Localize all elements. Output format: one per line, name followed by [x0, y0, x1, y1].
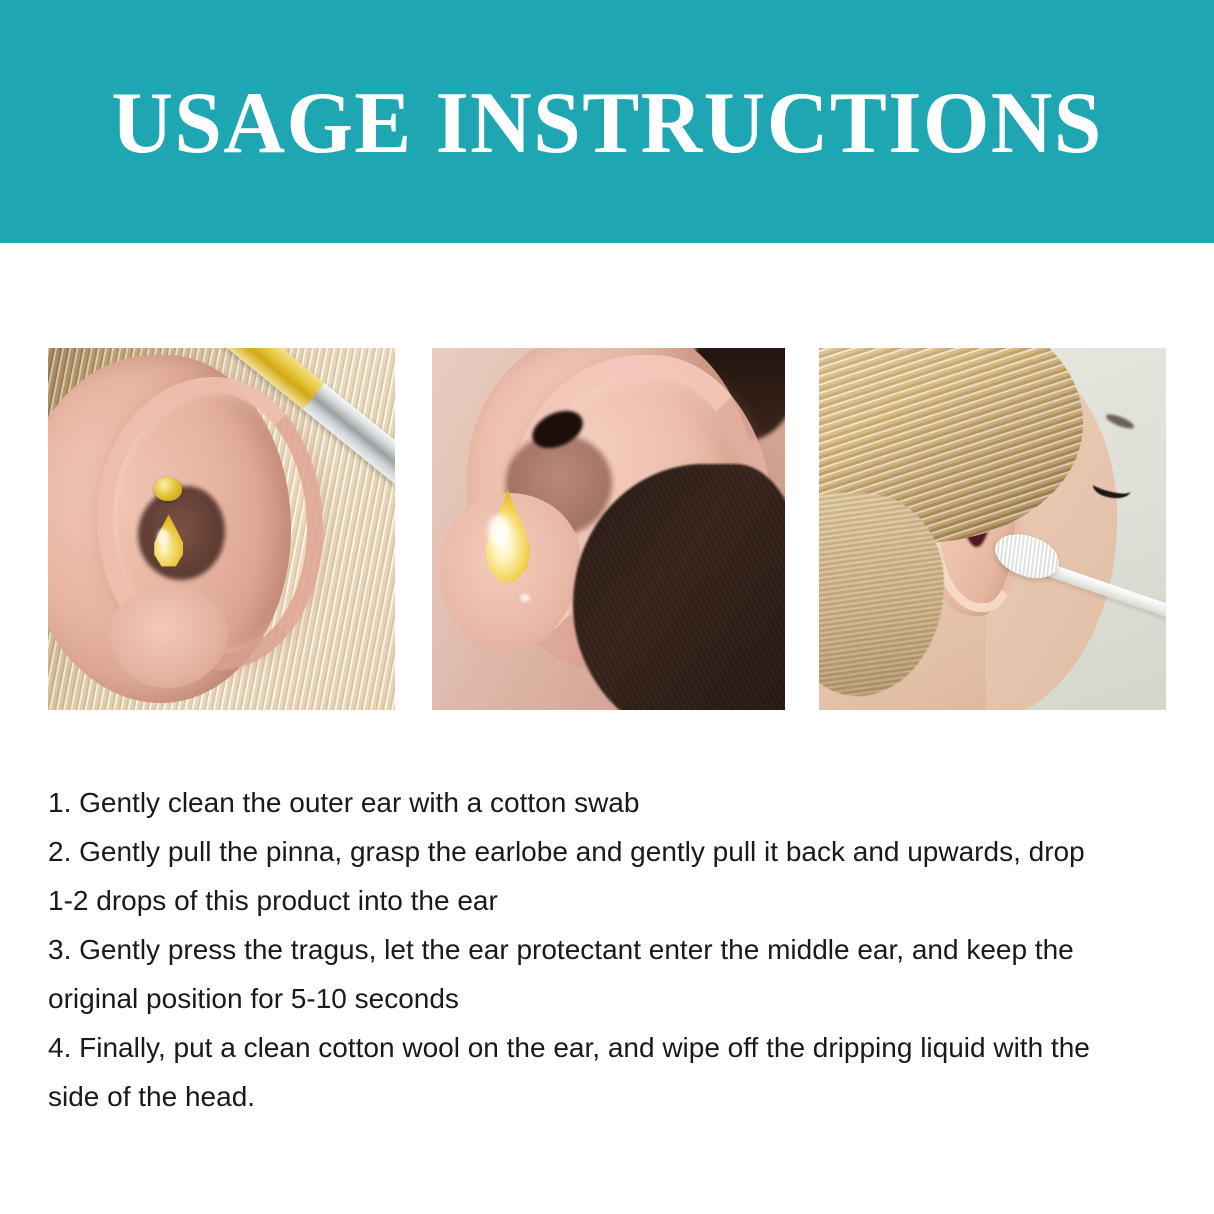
instruction-line: side of the head.	[48, 1072, 1168, 1121]
instruction-line: 1. Gently clean the outer ear with a cot…	[48, 778, 1168, 827]
oil-drop-highlight	[488, 515, 510, 545]
instruction-line: original position for 5-10 seconds	[48, 974, 1168, 1023]
header-banner: USAGE INSTRUCTIONS	[0, 0, 1214, 243]
instruction-line: 3. Gently press the tragus, let the ear …	[48, 925, 1168, 974]
image-ear-with-dropper	[48, 348, 395, 710]
instructions-list: 1. Gently clean the outer ear with a cot…	[48, 778, 1168, 1121]
instruction-line: 1-2 drops of this product into the ear	[48, 876, 1168, 925]
instruction-line: 2. Gently pull the pinna, grasp the earl…	[48, 827, 1168, 876]
page-title: USAGE INSTRUCTIONS	[111, 80, 1102, 168]
image-ear-with-cotton-swab	[819, 348, 1166, 710]
dropper-tip-icon	[154, 477, 182, 501]
instruction-line: 4. Finally, put a clean cotton wool on t…	[48, 1023, 1168, 1072]
image-gallery	[0, 243, 1214, 743]
ear-canal-shadow	[138, 486, 225, 580]
image-ear-with-oil-drop	[432, 348, 785, 710]
